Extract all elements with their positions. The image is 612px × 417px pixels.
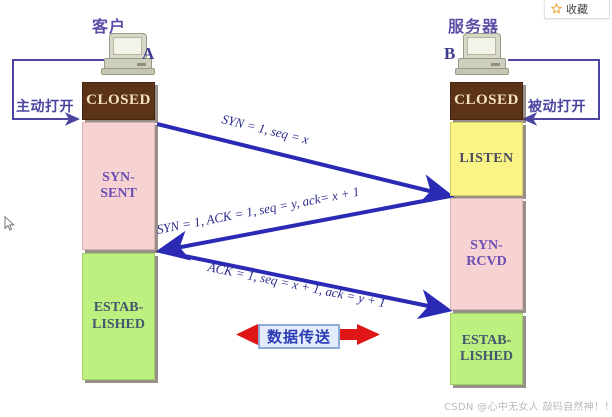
message-label-ack: ACK = 1, seq = x + 1, ack = y + 1 (206, 259, 387, 311)
server-screen-icon (467, 37, 496, 55)
state-box-client-established[interactable]: ESTAB- LISHED (82, 253, 155, 380)
state-label: CLOSED (86, 92, 151, 109)
favorite-badge-label: 收藏 (566, 1, 588, 17)
favorite-badge[interactable]: 收藏 (544, 0, 610, 19)
state-label: CLOSED (454, 92, 519, 109)
data-transfer-box[interactable]: 数据传送 (258, 324, 340, 349)
state-box-server-syn-rcvd[interactable]: SYN- RCVD (450, 198, 523, 310)
client-host-letter: A (142, 44, 154, 64)
state-label-line1: SYN- (102, 170, 135, 186)
message-label-syn-ack: SYN = 1, ACK = 1, seq = y, ack= x + 1 (156, 184, 361, 238)
server-host-letter: B (444, 44, 455, 64)
diagram-canvas: 客户 A 主动打开 CLOSED SYN- SENT ESTAB- LISHED… (0, 0, 612, 417)
data-transfer-label: 数据传送 (267, 326, 331, 347)
server-foot-icon (455, 68, 509, 75)
state-label-line2: RCVD (466, 254, 506, 270)
server-passive-open-label: 被动打开 (528, 96, 586, 116)
state-label-line1: SYN- (470, 238, 503, 254)
state-box-server-listen[interactable]: LISTEN (450, 122, 523, 196)
server-computer-icon (455, 33, 509, 77)
state-label: LISTEN (459, 151, 513, 167)
state-label-line2: LISHED (460, 349, 513, 365)
state-box-client-syn-sent[interactable]: SYN- SENT (82, 122, 155, 250)
mouse-pointer-icon (4, 216, 16, 232)
state-label-line1: ESTAB- (94, 300, 144, 316)
server-monitor-icon (463, 33, 501, 60)
state-box-server-established[interactable]: ESTAB- LISHED (450, 313, 523, 385)
state-label-line2: SENT (100, 186, 137, 202)
data-transfer-right-arrow-icon (340, 324, 380, 345)
state-box-client-closed[interactable]: CLOSED (82, 82, 155, 120)
client-foot-icon (101, 68, 155, 75)
star-icon (551, 3, 562, 14)
client-active-open-label: 主动打开 (16, 96, 74, 116)
server-drive-slot-icon (491, 63, 500, 66)
watermark-text: CSDN @心中无女人 敲码自然神！！ (444, 398, 612, 413)
state-label-line1: ESTAB- (462, 333, 512, 349)
message-label-syn: SYN = 1, seq = x (220, 111, 310, 148)
client-screen-icon (113, 37, 142, 55)
state-label-line2: LISHED (92, 317, 145, 333)
state-box-server-closed[interactable]: CLOSED (450, 82, 523, 120)
